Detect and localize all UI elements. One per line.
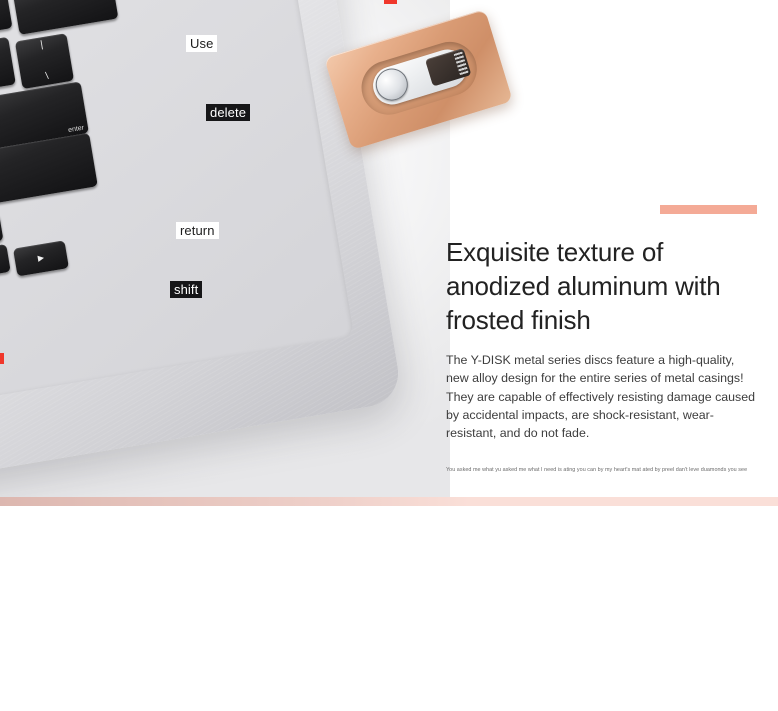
supported-devices-section: Supporting equipment Android xyxy=(0,506,778,711)
page-title: Exquisite texture of anodized aluminum w… xyxy=(446,200,762,337)
hero-section: F10 F11 ⏻ ) 0 _ - xyxy=(0,0,778,497)
key-shift xyxy=(0,133,98,216)
hero-copy: Exquisite texture of anodized aluminum w… xyxy=(446,200,762,474)
callout-shift: shift xyxy=(170,281,202,298)
key-bracket-right: } ] xyxy=(0,37,16,93)
callout-use: Use xyxy=(186,35,217,52)
hero-description: The Y-DISK metal series discs feature a … xyxy=(446,337,760,442)
callout-delete: delete xyxy=(206,104,250,121)
key-backslash: | \ xyxy=(15,33,74,89)
key-arrow-down: ▼ xyxy=(0,244,11,280)
section-divider-shade xyxy=(0,497,470,506)
crop-mark-left xyxy=(0,353,4,364)
fine-print: You asked me what yu asked me what I nee… xyxy=(446,442,762,474)
key-arrow-up: ▲ xyxy=(0,213,3,249)
key-arrow-right: ▶ xyxy=(13,240,69,276)
accent-bar xyxy=(660,205,757,214)
keyboard-grid: F10 F11 ⏻ ) 0 _ - xyxy=(0,0,324,383)
callout-return: return xyxy=(176,222,219,239)
product-page: F10 F11 ⏻ ) 0 _ - xyxy=(0,0,778,711)
key-delete xyxy=(12,0,119,35)
key-equal: + = xyxy=(0,0,13,36)
crop-mark-top xyxy=(384,0,397,4)
